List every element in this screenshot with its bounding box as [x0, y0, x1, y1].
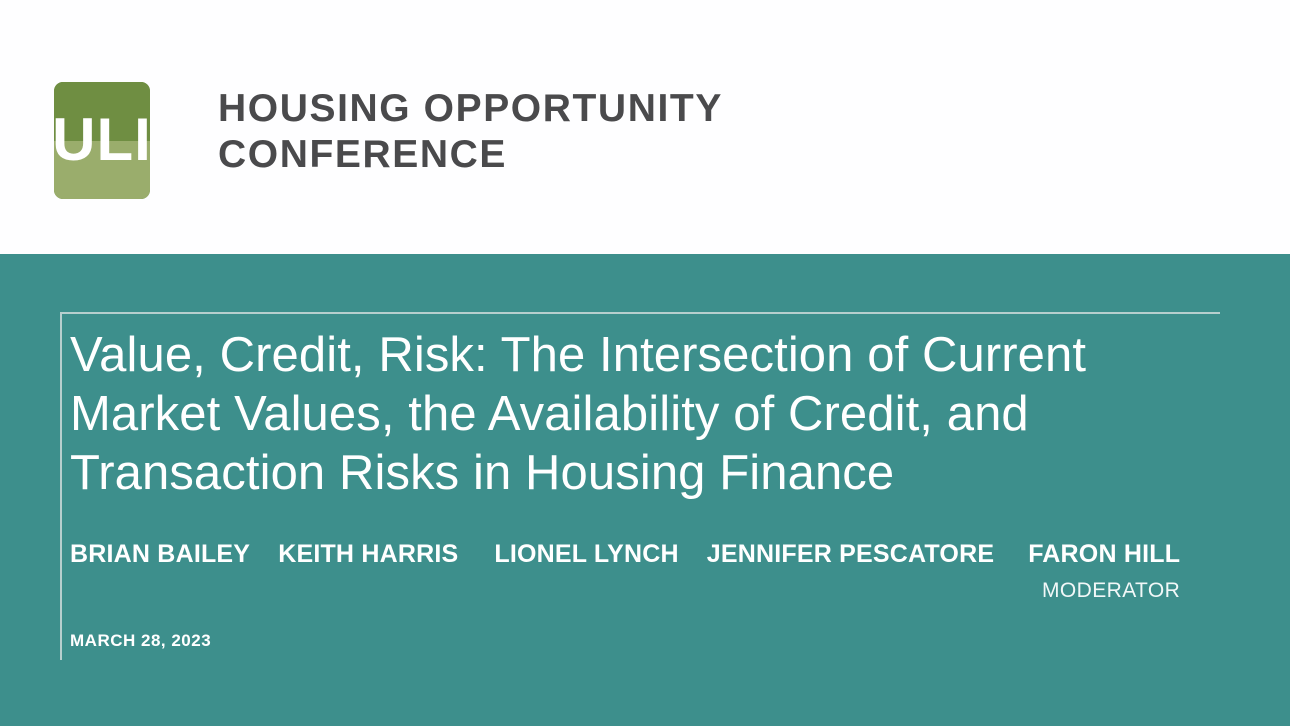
speaker-name: JENNIFER PESCATORE — [707, 540, 994, 568]
speaker-jennifer-pescatore: JENNIFER PESCATORE — [707, 539, 994, 569]
speaker-faron-hill: FARON HILL MODERATOR — [1028, 539, 1180, 603]
rule-vertical — [60, 312, 62, 660]
speaker-role-moderator: MODERATOR — [1028, 579, 1180, 603]
speaker-brian-bailey: BRIAN BAILEY — [70, 539, 250, 569]
speaker-name: KEITH HARRIS — [278, 540, 458, 568]
content-band: Value, Credit, Risk: The Intersection of… — [0, 254, 1290, 726]
brand-text: HOUSING OPPORTUNITY CONFERENCE — [218, 82, 723, 178]
page-title: Value, Credit, Risk: The Intersection of… — [70, 326, 1200, 503]
speaker-lionel-lynch: LIONEL LYNCH — [494, 539, 678, 569]
rule-horizontal — [60, 312, 1220, 314]
brand-lockup: ULI HOUSING OPPORTUNITY CONFERENCE — [54, 82, 723, 199]
speaker-name: FARON HILL — [1028, 540, 1180, 568]
brand-line-conference: CONFERENCE — [218, 132, 723, 178]
speaker-name: BRIAN BAILEY — [70, 540, 250, 568]
speaker-name: LIONEL LYNCH — [494, 540, 678, 568]
speaker-list: BRIAN BAILEY KEITH HARRIS LIONEL LYNCH J… — [70, 539, 1180, 603]
uli-logo-icon: ULI — [54, 82, 150, 199]
logo-wordmark: ULI — [54, 82, 150, 199]
speaker-keith-harris: KEITH HARRIS — [278, 539, 458, 569]
event-date: MARCH 28, 2023 — [70, 630, 211, 651]
header-band: ULI HOUSING OPPORTUNITY CONFERENCE — [0, 0, 1290, 254]
presentation-title-slide: ULI HOUSING OPPORTUNITY CONFERENCE Value… — [0, 0, 1290, 726]
brand-line-housing-opportunity: HOUSING OPPORTUNITY — [218, 86, 723, 132]
